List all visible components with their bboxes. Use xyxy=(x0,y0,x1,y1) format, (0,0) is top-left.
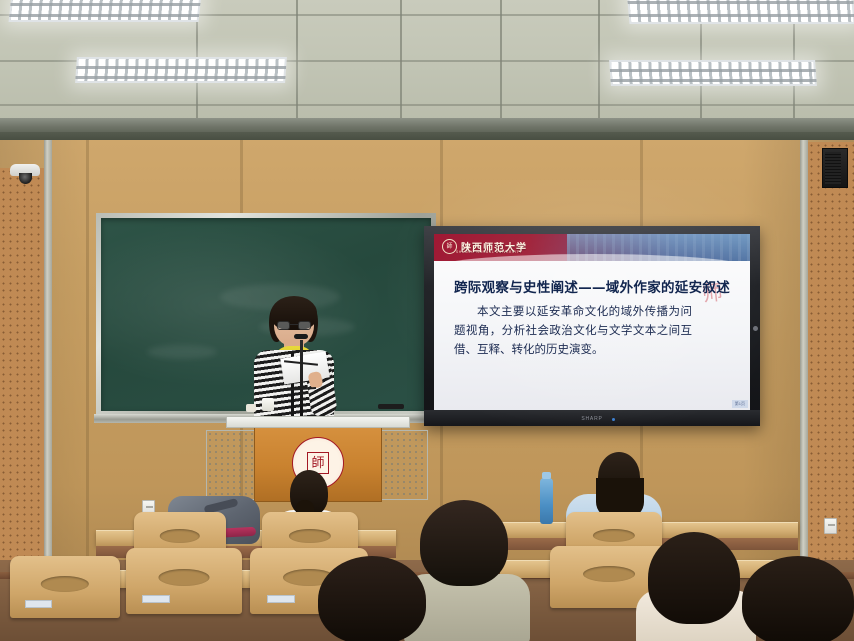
university-name-romanized: SHAANXI NORMAL UNIVERSITY xyxy=(456,250,522,254)
ceiling-light-4 xyxy=(609,60,817,86)
calligraphy-watermark: 师 xyxy=(682,279,750,396)
ceiling-tiles xyxy=(0,0,854,128)
microphone-head xyxy=(294,334,308,339)
smart-display[interactable]: 師 陕西师范大学 SHAANXI NORMAL UNIVERSITY 师 跨际观… xyxy=(424,226,760,426)
student-front-left xyxy=(318,556,426,641)
lecture-hall-scene: 師 陕西师范大学 SHAANXI NORMAL UNIVERSITY 师 跨际观… xyxy=(0,0,854,641)
wall-speaker-icon xyxy=(822,148,848,188)
presentation-slide: 師 陕西师范大学 SHAANXI NORMAL UNIVERSITY 师 跨际观… xyxy=(434,234,750,410)
remote-control xyxy=(378,404,404,409)
student-head xyxy=(420,500,508,586)
slide-title: 跨际观察与史性阐述——域外作家的延安叙述 xyxy=(434,276,750,296)
microphone-stem xyxy=(300,340,303,416)
ceiling-light-3 xyxy=(75,57,287,83)
lectern-speaker-panel-right xyxy=(376,430,428,500)
power-outlet-right xyxy=(824,518,837,534)
chair-front-1 xyxy=(10,556,120,618)
lectern-speaker-panel-left xyxy=(206,430,258,500)
lectern-top-surface xyxy=(226,416,410,428)
display-side-button[interactable] xyxy=(753,326,758,331)
student-head xyxy=(742,556,854,641)
student-cream-knit xyxy=(636,532,756,641)
university-logo-mark: 師 xyxy=(442,239,457,254)
ceiling-light-2 xyxy=(627,0,854,24)
slide-body-text: 本文主要以延安革命文化的域外传播为问题视角，分析社会政治文化与文学文本之间互借、… xyxy=(454,302,692,359)
acoustic-panel-right xyxy=(808,142,854,582)
security-camera-icon xyxy=(10,164,40,184)
student-head xyxy=(318,556,426,641)
eyeglasses-icon xyxy=(277,321,311,330)
chair-front-2 xyxy=(126,548,242,614)
display-brand-label: SHARP xyxy=(581,416,602,422)
ceiling-light-1 xyxy=(9,0,202,22)
wall-trim-left xyxy=(44,140,52,600)
slide-page-tag: 第1页 xyxy=(732,400,748,408)
acoustic-panel-left xyxy=(0,168,44,600)
student-head xyxy=(648,532,740,624)
desk-object xyxy=(246,404,256,412)
wall-trim-right xyxy=(800,140,808,582)
student-front-right xyxy=(742,556,854,641)
water-bottle xyxy=(540,478,553,524)
paper-cup xyxy=(262,398,274,411)
